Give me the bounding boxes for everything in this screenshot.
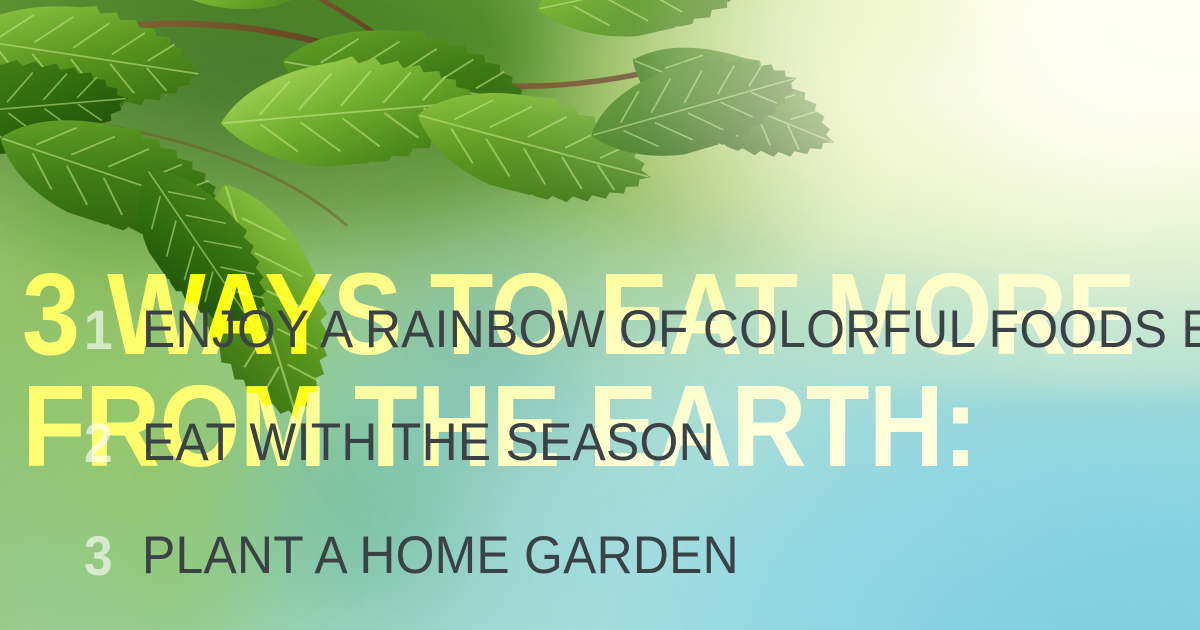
graphic-canvas: 3 WAYS TO EAT MOREFROM THE EARTH: 1 ENJO…: [0, 0, 1200, 630]
list-item-number: 3: [84, 526, 137, 586]
text-overlay: 3 WAYS TO EAT MOREFROM THE EARTH: 1 ENJO…: [0, 0, 1200, 630]
list-item-number: 1: [84, 300, 137, 360]
tips-list: 1 ENJOY A RAINBOW OF COLORFUL FOODS EVER…: [84, 300, 1174, 630]
list-item-text: PLANT A HOME GARDEN: [142, 526, 1112, 586]
list-item-number: 2: [84, 413, 137, 473]
list-item: 2 EAT WITH THE SEASON: [84, 413, 1174, 526]
list-item: 3 PLANT A HOME GARDEN: [84, 526, 1174, 630]
list-item: 1 ENJOY A RAINBOW OF COLORFUL FOODS EVER…: [84, 300, 1174, 413]
list-item-text: EAT WITH THE SEASON: [142, 413, 1112, 473]
list-item-text: ENJOY A RAINBOW OF COLORFUL FOODS EVERYD…: [142, 300, 1200, 360]
